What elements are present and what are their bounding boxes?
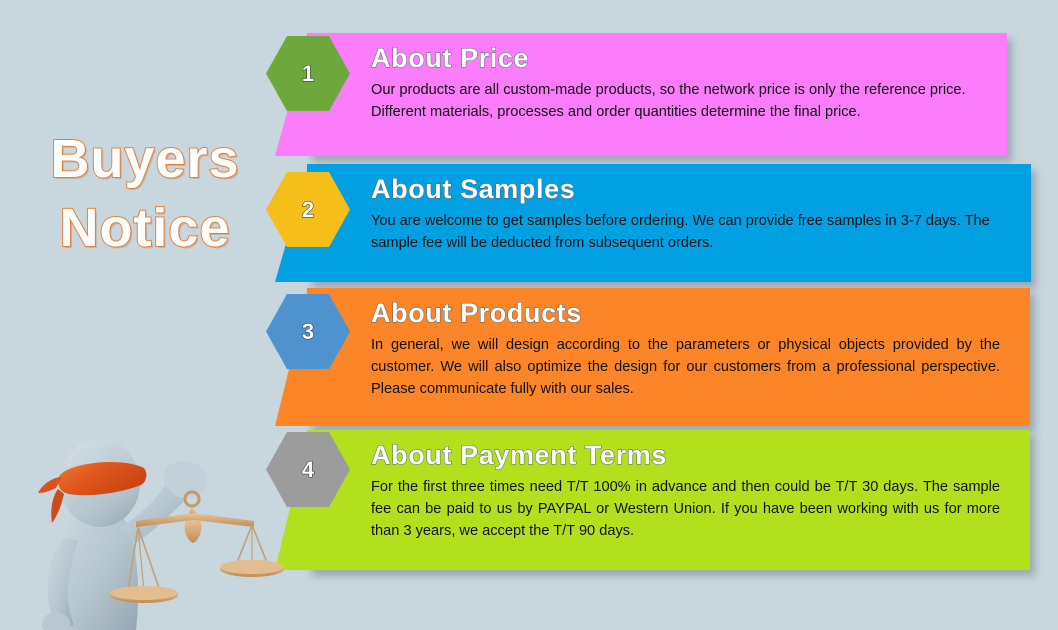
notice-card-step-number: 4 [302, 459, 314, 481]
notice-card-title: About Samples [371, 173, 1001, 207]
notice-card-content: About ProductsIn general, we will design… [307, 288, 1030, 412]
notice-card-step-number: 1 [302, 63, 314, 85]
notice-card-content: About PriceOur products are all custom-m… [307, 33, 1007, 135]
notice-card-body: Our products are all custom-made product… [371, 79, 977, 123]
notice-card-title: About Payment Terms [371, 439, 1000, 473]
notice-card-step-number: 2 [302, 199, 314, 221]
notice-card-content: About SamplesYou are welcome to get samp… [307, 164, 1031, 266]
notice-card-band: About PriceOur products are all custom-m… [307, 33, 1007, 156]
notice-card-list: About PriceOur products are all custom-m… [0, 0, 1058, 630]
notice-card-body: You are welcome to get samples before or… [371, 210, 1001, 254]
notice-card-title: About Price [371, 42, 977, 76]
notice-card-body: In general, we will design according to … [371, 334, 1000, 401]
notice-card-band: About SamplesYou are welcome to get samp… [307, 164, 1031, 282]
notice-card-band: About Payment TermsFor the first three t… [307, 430, 1030, 570]
notice-card-body: For the first three times need T/T 100% … [371, 476, 1000, 543]
notice-card-content: About Payment TermsFor the first three t… [307, 430, 1030, 554]
notice-card-title: About Products [371, 297, 1000, 331]
notice-card-step-number: 3 [302, 321, 314, 343]
notice-card-band: About ProductsIn general, we will design… [307, 288, 1030, 426]
